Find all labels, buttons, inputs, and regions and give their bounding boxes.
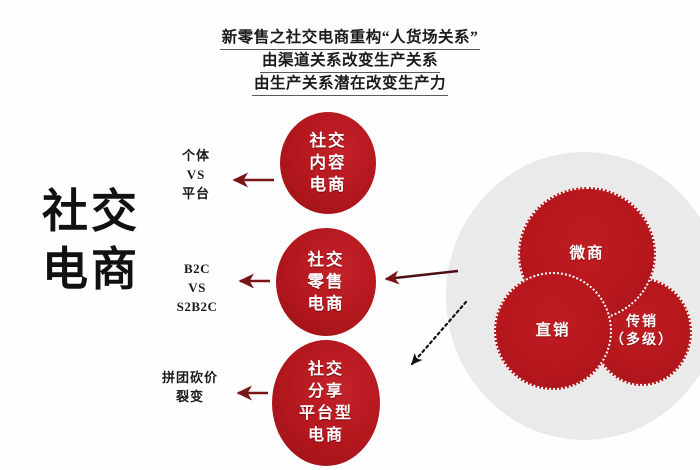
title-line-3: 由生产关系潜在改变生产力	[252, 74, 448, 96]
brand-heading-line-1: 社交	[42, 183, 172, 241]
diagram-title: 新零售之社交电商重构“人货场关系” 由渠道关系改变生产关系 由生产关系潜在改变生…	[0, 28, 700, 97]
brand-heading-line-2: 电商	[42, 241, 172, 299]
node-content-line-3: 电商	[310, 174, 347, 196]
node-retail-line-1: 社交	[308, 249, 345, 271]
node-social-retail-ecommerce: 社交 零售 电商	[276, 228, 376, 336]
node-weishang-lines: 微商	[569, 244, 604, 264]
label-individual-line-1: 个体	[163, 146, 229, 165]
node-weishang-line-1: 微商	[569, 244, 604, 264]
title-line-2: 由渠道关系改变生产关系	[260, 51, 440, 73]
node-zhixiao-line-1: 直销	[535, 321, 570, 341]
node-platform-line-3: 平台型	[299, 403, 353, 425]
node-retail-line-3: 电商	[308, 293, 345, 315]
node-social-content-ecommerce: 社交 内容 电商	[280, 112, 376, 214]
node-platform-line-4: 电商	[299, 425, 353, 447]
node-retail-lines: 社交 零售 电商	[308, 249, 345, 315]
node-platform-line-1: 社交	[299, 359, 353, 381]
title-row-2: 由渠道关系改变生产关系	[0, 51, 700, 73]
label-fission-line-2: 裂变	[144, 387, 236, 406]
diagram-canvas: 新零售之社交电商重构“人货场关系” 由渠道关系改变生产关系 由生产关系潜在改变生…	[0, 0, 700, 470]
node-chuanxiao-lines: 传销 （多级）	[610, 314, 674, 350]
node-content-line-1: 社交	[310, 130, 347, 152]
label-individual-line-3: 平台	[163, 184, 229, 203]
label-fission-line-1: 拼团砍价	[144, 368, 236, 387]
node-chuanxiao-line-1: 传销	[610, 314, 674, 332]
label-b2c-line-3: S2B2C	[160, 297, 234, 316]
node-platform-line-2: 分享	[299, 381, 353, 403]
title-line-1: 新零售之社交电商重构“人货场关系”	[220, 28, 481, 50]
node-direct-selling: 直销	[494, 272, 612, 390]
label-individual-line-2: VS	[163, 165, 229, 184]
brand-heading: 社交 电商	[42, 183, 172, 299]
node-platform-lines: 社交 分享 平台型 电商	[299, 359, 353, 447]
node-chuanxiao-line-2: （多级）	[610, 332, 674, 350]
node-zhixiao-lines: 直销	[535, 321, 570, 341]
node-social-sharing-platform-ecommerce: 社交 分享 平台型 电商	[272, 340, 380, 466]
node-retail-line-2: 零售	[308, 271, 345, 293]
title-row-1: 新零售之社交电商重构“人货场关系”	[0, 28, 700, 50]
label-individual-vs-platform: 个体 VS 平台	[163, 146, 229, 203]
label-group-buy-fission: 拼团砍价 裂变	[144, 368, 236, 406]
node-content-lines: 社交 内容 电商	[310, 130, 347, 196]
node-content-line-2: 内容	[310, 152, 347, 174]
title-row-3: 由生产关系潜在改变生产力	[0, 74, 700, 96]
